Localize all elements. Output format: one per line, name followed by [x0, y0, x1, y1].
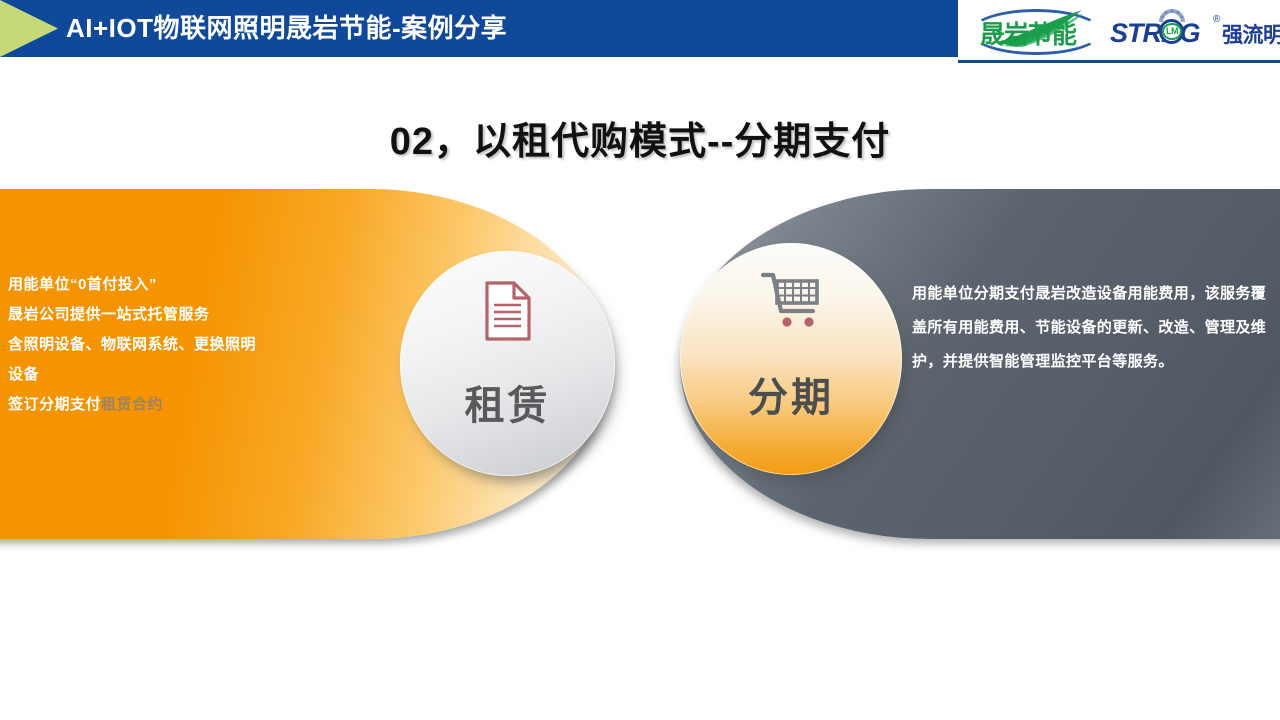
- lease-line-3: 含照明设备、物联网系统、更换照明: [8, 330, 328, 360]
- header-title: AI+IOT物联网照明晟岩节能-案例分享: [66, 0, 507, 57]
- lease-line-5-prefix: 签订分期支付: [8, 396, 101, 413]
- brand-logo: 晟岩节能 STRNG LM ® 强流明照明: [958, 0, 1280, 63]
- installment-panel-text: 用能单位分期支付晟岩改造设备用能费用，该服务覆盖所有用能费用、节能设备的更新、改…: [912, 277, 1280, 379]
- lease-line-5: 签订分期支付租赁合约: [8, 390, 328, 420]
- shopping-cart-icon: [680, 271, 902, 334]
- registered-mark: ®: [1213, 14, 1220, 25]
- shengyan-logo-text: 晟岩节能: [980, 15, 1076, 51]
- installment-bubble-label: 分期: [680, 365, 902, 423]
- lease-line-2: 晟岩公司提供一站式托管服务: [8, 300, 328, 330]
- page-title: 02，以租代购模式--分期支付: [0, 110, 1280, 165]
- lease-panel-text: 用能单位“0首付投入” 晟岩公司提供一站式托管服务 含照明设备、物联网系统、更换…: [8, 270, 328, 420]
- lease-bubble[interactable]: 租赁: [400, 251, 615, 476]
- lease-line-5-highlight: 租赁合约: [101, 396, 163, 413]
- shengyan-logo: 晟岩节能: [966, 6, 1106, 54]
- diagram-area: 用能单位“0首付投入” 晟岩公司提供一站式托管服务 含照明设备、物联网系统、更换…: [0, 185, 1280, 565]
- strong-logo-word: STRNG: [1110, 18, 1200, 49]
- footer-space: [0, 565, 1280, 720]
- lease-line-1: 用能单位“0首付投入”: [8, 270, 328, 300]
- document-icon: [400, 281, 615, 346]
- header-bar: AI+IOT物联网照明晟岩节能-案例分享 晟岩节能 STRNG LM ® 强流明…: [0, 0, 1280, 60]
- lease-bubble-label: 租赁: [400, 373, 615, 431]
- strong-logo: STRNG LM ® 强流明照明: [1110, 6, 1278, 54]
- header-blue-band: AI+IOT物联网照明晟岩节能-案例分享: [0, 0, 958, 57]
- installment-bubble[interactable]: 分期: [680, 243, 902, 475]
- strong-logo-cn-text: 强流明照明: [1222, 19, 1280, 49]
- lease-line-4: 设备: [8, 360, 328, 390]
- chevron-right-icon: [0, 0, 58, 57]
- lm-badge: LM: [1162, 23, 1182, 40]
